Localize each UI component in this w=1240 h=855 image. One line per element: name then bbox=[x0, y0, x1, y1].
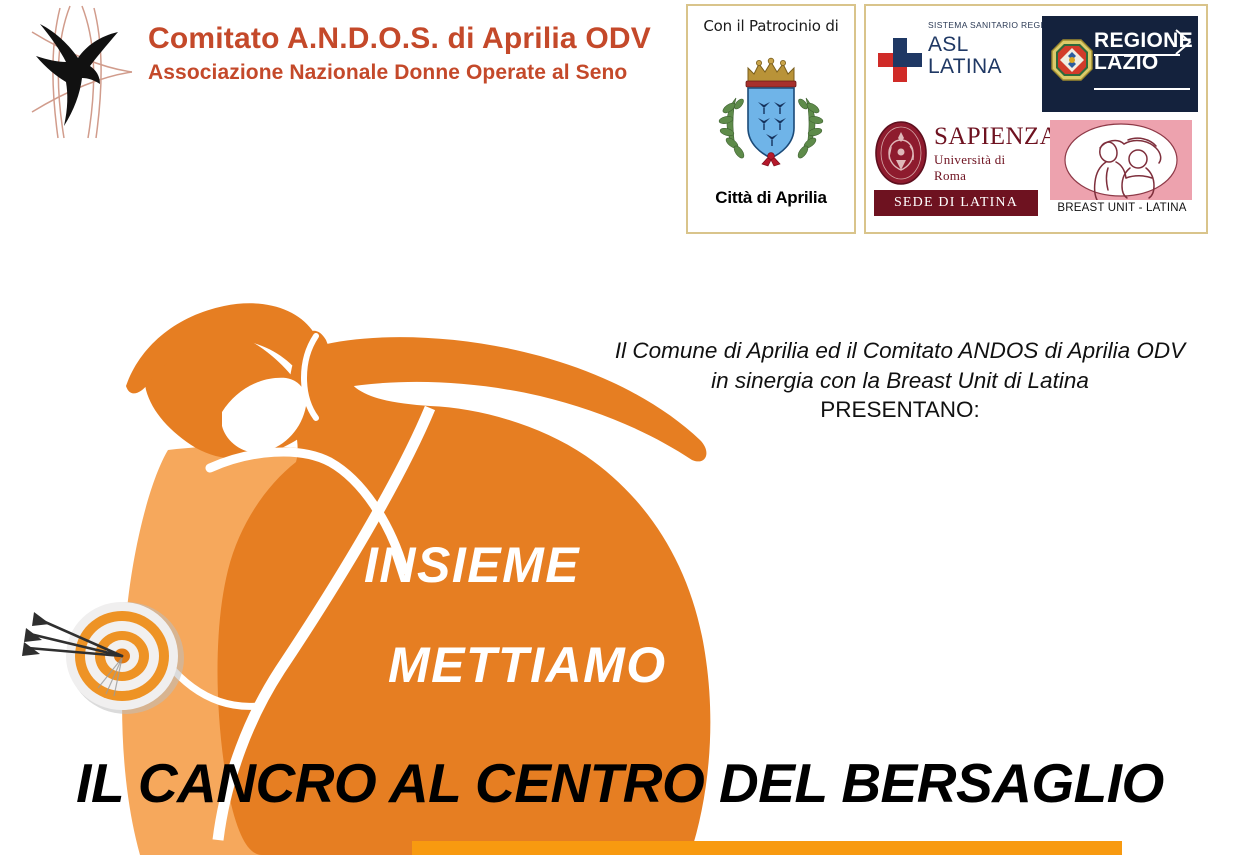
andos-title-block: Comitato A.N.D.O.S. di Aprilia ODV Assoc… bbox=[148, 22, 688, 85]
sapienza-minerva-seal-icon bbox=[874, 120, 928, 186]
asl-latina-logo: SISTEMA SANITARIO REGIONALE ASL LATINA bbox=[872, 14, 1040, 114]
bottom-accent-bar bbox=[412, 841, 1122, 855]
andos-logo bbox=[8, 2, 148, 142]
chevron-right-icon bbox=[1174, 28, 1194, 56]
intro-text-block: Il Comune di Aprilia ed il Comitato ANDO… bbox=[600, 336, 1200, 426]
sapienza-subtitle: Università di Roma bbox=[934, 152, 1040, 184]
lazio-divider-2 bbox=[1094, 88, 1190, 90]
patronage-label: Con il Patrocinio di bbox=[688, 17, 854, 35]
woman-silhouette-icon bbox=[0, 150, 760, 855]
asl-name-line2: LATINA bbox=[928, 56, 1002, 78]
lazio-divider-1 bbox=[1094, 54, 1180, 56]
main-headline: IL CANCRO AL CENTRO DEL BERSAGLIO bbox=[0, 751, 1240, 815]
intro-line-1: Il Comune di Aprilia ed il Comitato ANDO… bbox=[600, 336, 1200, 366]
breast-unit-caption: BREAST UNIT - LATINA bbox=[1046, 202, 1198, 214]
intro-line-2: in sinergia con la Breast Unit di Latina bbox=[600, 366, 1200, 396]
partner-logos-box: SISTEMA SANITARIO REGIONALE ASL LATINA bbox=[864, 4, 1208, 234]
org-name: Comitato A.N.D.O.S. di Aprilia ODV bbox=[148, 22, 688, 56]
breast-unit-logo: BREAST UNIT - LATINA bbox=[1046, 120, 1198, 224]
mother-and-child-icon bbox=[1050, 120, 1192, 200]
sapienza-name: SAPIENZA bbox=[934, 124, 1058, 149]
sapienza-banner: SEDE DI LATINA bbox=[874, 190, 1038, 216]
sapienza-logo: SAPIENZA Università di Roma SEDE DI LATI… bbox=[872, 118, 1040, 224]
swallow-bird-icon bbox=[8, 2, 148, 142]
archery-target-with-arrows-icon bbox=[22, 592, 202, 722]
regione-lazio-panel: REGIONE LAZIO bbox=[1042, 16, 1198, 112]
breast-unit-panel bbox=[1050, 120, 1192, 200]
asl-name: ASL LATINA bbox=[928, 34, 1002, 77]
slogan-word-mettiamo: METTIAMO bbox=[388, 636, 667, 694]
org-subtitle: Associazione Nazionale Donne Operate al … bbox=[148, 61, 688, 86]
poster-canvas: Comitato A.N.D.O.S. di Aprilia ODV Assoc… bbox=[0, 0, 1240, 855]
asl-name-line1: ASL bbox=[928, 34, 1002, 56]
slogan-word-insieme: INSIEME bbox=[364, 536, 580, 594]
intro-line-3: PRESENTANO: bbox=[600, 395, 1200, 425]
medical-cross-icon bbox=[876, 36, 924, 84]
regione-lazio-emblem-icon bbox=[1050, 38, 1094, 84]
regione-lazio-logo: REGIONE LAZIO bbox=[1042, 16, 1198, 112]
